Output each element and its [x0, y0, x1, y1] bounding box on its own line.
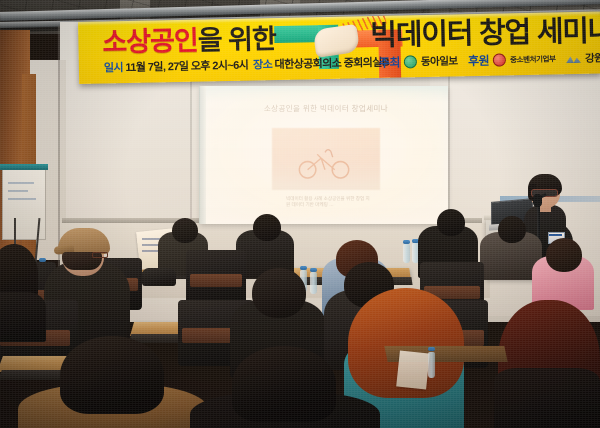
event-banner: 소상공인을 위한 빅데이터 창업 세미나 일시 11월 7일, 27일 오후 2…: [78, 12, 600, 84]
banner-title-right: 빅데이터 창업 세미나: [370, 14, 600, 53]
banner-sponsor-value-2: 강원랜드: [585, 50, 600, 66]
flip-chart-line: [8, 198, 36, 200]
handout-paper: [396, 351, 430, 390]
attendee-head: [172, 218, 198, 243]
donga-logo-icon: [404, 55, 417, 68]
chair-pad: [190, 274, 242, 287]
slide-title: 소상공인을 위한 빅데이터 창업세미나: [226, 103, 426, 114]
attendee-head: [253, 214, 281, 241]
attendee-glasses-icon: [92, 252, 108, 258]
kangwonland-logo-icon: [566, 54, 581, 63]
attendee-front-left-head: [60, 336, 164, 414]
attendee-left-edge-body: [0, 292, 46, 342]
banner-title-left: 소상공인을 위한: [102, 23, 276, 58]
attendee-far-right-body: [494, 368, 600, 428]
black-bag: [142, 268, 176, 286]
banner-datetime-value: 11월 7일, 27일 오후 2시~6시: [125, 60, 248, 74]
slide-caption: 빅데이터 활용 사례 소상공인을 위한 창업 지원 데이터 기반 마케팅 …: [286, 196, 372, 208]
banner-host-label: 주최: [379, 54, 400, 71]
attendee-head: [498, 216, 526, 243]
water-bottle-cap: [403, 240, 410, 244]
banner-datetime-label: 일시: [104, 62, 123, 74]
water-bottle: [403, 244, 410, 263]
wall-seam: [190, 60, 192, 230]
attendee-hair: [546, 238, 582, 272]
attendee-front-right-head: [232, 346, 336, 422]
flip-chart-line: [8, 190, 28, 192]
banner-sponsor-value-1: 중소벤처기업부: [510, 53, 556, 65]
microphone-icon: [533, 194, 542, 207]
speaker-name-badge-bar: [549, 234, 562, 236]
banner-sponsor-label: 후원: [468, 52, 489, 69]
government-logo-icon: [493, 53, 506, 66]
attendee-head: [252, 268, 306, 318]
banner-place-value: 대한상공회의소 중회의실B: [275, 57, 390, 71]
water-bottle: [428, 352, 435, 378]
banner-credits: 주최 동아일보 후원 중소벤처기업부 강원랜드: [379, 49, 600, 71]
banner-host-value: 동아일보: [421, 53, 458, 69]
seminar-photo: 소상공인을 위한 빅데이터 창업 세미나 일시 11월 7일, 27일 오후 2…: [0, 0, 600, 428]
flip-chart-bar: [0, 164, 48, 170]
water-bottle: [310, 272, 317, 294]
projection-screen-edge: [199, 86, 206, 224]
attendee-head: [437, 209, 465, 236]
flip-chart-line: [8, 182, 34, 184]
banner-title-black: 을 위한: [197, 24, 276, 56]
water-bottle-cap: [300, 266, 307, 270]
banner-title-red: 소상공인: [102, 26, 198, 58]
water-bottle-cap: [428, 347, 435, 351]
water-bottle-cap: [310, 268, 317, 272]
slide-bicycle-icon: [296, 146, 354, 180]
banner-place-label: 장소: [253, 59, 272, 71]
